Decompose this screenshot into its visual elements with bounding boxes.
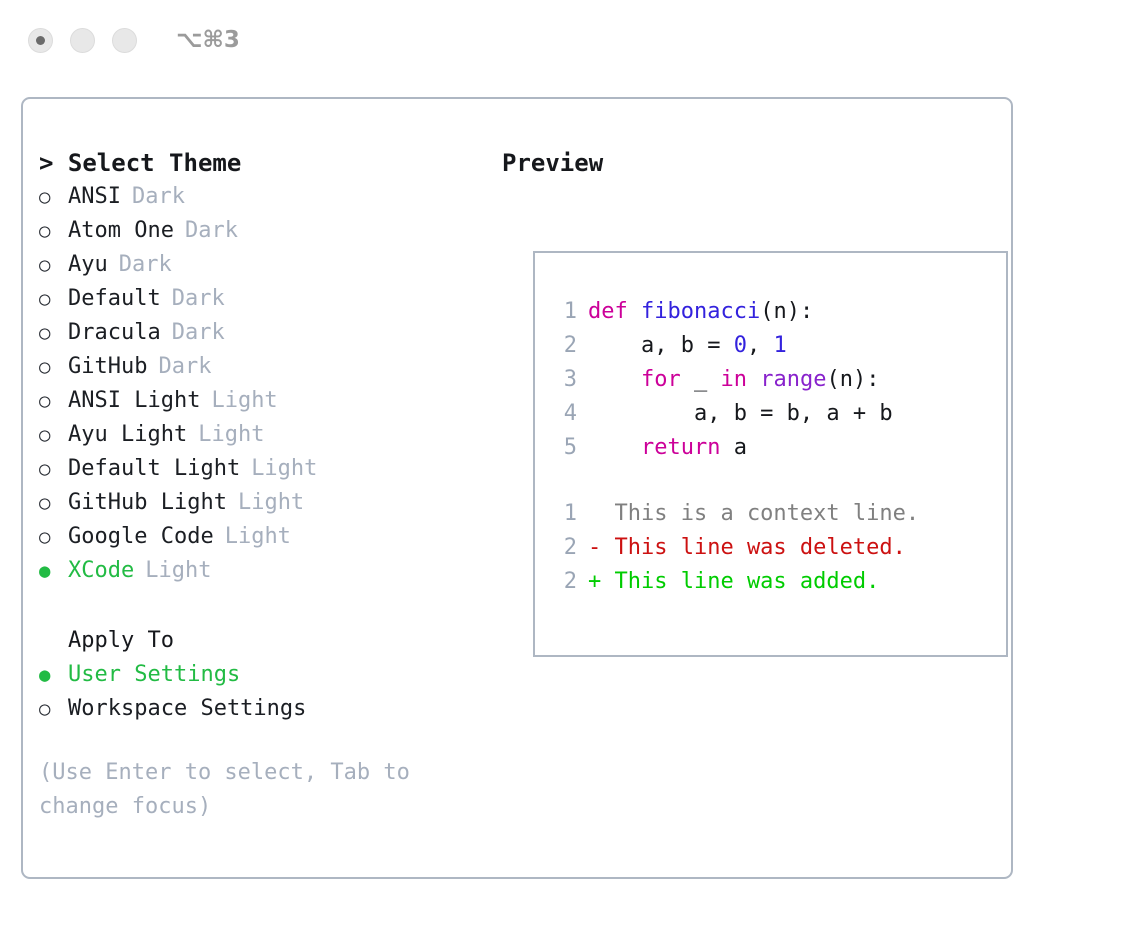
code-line: 5 return a [549,431,919,465]
theme-item-label: GitHub [68,350,147,384]
diff-line-text: + This line was added. [588,565,879,599]
theme-item-tag: Light [211,384,277,418]
theme-item-tag: Light [238,486,304,520]
radio-unselected-icon: ○ [39,214,68,248]
code-sample: 1def fibonacci(n):2 a, b = 0, 13 for _ i… [549,295,919,599]
code-token-fn: fibonacci [641,295,760,329]
diff-line-text: - This line was deleted. [588,531,906,565]
theme-item-label: Ayu Light [68,418,187,452]
theme-item[interactable]: ○DraculaDark [39,316,489,350]
keyboard-hint-text: (Use Enter to select, Tab to change focu… [39,756,449,824]
code-token-num: 1 [773,329,786,363]
keyboard-shortcut-label: ⌥⌘3 [176,27,240,53]
code-line-number: 5 [549,431,577,465]
radio-unselected-icon: ○ [39,316,68,350]
code-token-pl: a, b = [588,329,734,363]
diff-lines: 1 This is a context line.2- This line wa… [549,497,919,599]
theme-item-tag: Light [225,520,291,554]
theme-item-tag: Dark [132,180,185,214]
theme-item[interactable]: ○Google CodeLight [39,520,489,554]
theme-item-tag: Dark [158,350,211,384]
theme-item[interactable]: ○GitHubDark [39,350,489,384]
theme-item[interactable]: ○DefaultDark [39,282,489,316]
apply-to-item[interactable]: ○Workspace Settings [39,692,489,726]
code-token-kw: in [720,363,747,397]
code-token-pl: a [720,431,747,465]
theme-item-label: Default Light [68,452,240,486]
code-gap [549,465,919,497]
code-token-pl [588,363,641,397]
theme-item-tag: Dark [172,316,225,350]
radio-unselected-icon: ○ [39,180,68,214]
code-token-pl: (n): [760,295,813,329]
diff-line-text: This is a context line. [588,497,919,531]
radio-unselected-icon: ○ [39,384,68,418]
code-token-call: range [760,363,826,397]
theme-item[interactable]: ○AyuDark [39,248,489,282]
theme-item[interactable]: ○Atom OneDark [39,214,489,248]
radio-unselected-icon: ○ [39,282,68,316]
radio-unselected-icon: ○ [39,692,68,726]
radio-unselected-icon: ○ [39,486,68,520]
theme-item-label: XCode [68,554,134,588]
theme-item-tag: Dark [185,214,238,248]
diff-line-add: 2+ This line was added. [549,565,919,599]
apply-to-item-label: Workspace Settings [68,692,306,726]
theme-item-tag: Dark [119,248,172,282]
theme-item-label: Default [68,282,161,316]
title-bar: ⌥⌘3 [0,0,1140,80]
app-window: ⌥⌘3 > Select Theme ○ANSIDark○Atom OneDar… [0,0,1140,934]
theme-item[interactable]: ○Default LightLight [39,452,489,486]
theme-item-label: Ayu [68,248,108,282]
theme-item[interactable]: ○ANSI LightLight [39,384,489,418]
code-token-pl [588,431,641,465]
theme-item-label: ANSI [68,180,121,214]
radio-unselected-icon: ○ [39,520,68,554]
radio-unselected-icon: ○ [39,418,68,452]
window-dot-active-icon[interactable] [28,28,53,53]
theme-item-tag: Light [251,452,317,486]
theme-item-tag: Dark [172,282,225,316]
code-token-num: 0 [734,329,747,363]
theme-item-label: Atom One [68,214,174,248]
diff-line-number: 2 [549,531,577,565]
diff-line-number: 1 [549,497,577,531]
code-token-kw: return [641,431,720,465]
theme-item[interactable]: ○Ayu LightLight [39,418,489,452]
theme-item[interactable]: ○GitHub LightLight [39,486,489,520]
radio-unselected-icon: ○ [39,248,68,282]
main-panel: > Select Theme ○ANSIDark○Atom OneDark○Ay… [21,97,1013,879]
theme-item[interactable]: ○ANSIDark [39,180,489,214]
radio-unselected-icon: ○ [39,452,68,486]
preview-column: Preview 1def fibonacci(n):2 a, b = 0, 13… [502,146,992,180]
code-token-pl: _ [681,363,721,397]
radio-selected-icon: ● [39,658,68,692]
theme-item-tag: Light [145,554,211,588]
window-dot-second-icon[interactable] [70,28,95,53]
theme-item-tag: Light [198,418,264,452]
code-line-number: 2 [549,329,577,363]
theme-item-label: ANSI Light [68,384,200,418]
diff-line-number: 2 [549,565,577,599]
code-token-kw: for [641,363,681,397]
preview-title: Preview [502,146,992,180]
code-token-kw: def [588,295,641,329]
theme-list[interactable]: ○ANSIDark○Atom OneDark○AyuDark○DefaultDa… [39,180,489,588]
code-token-pl: (n): [826,363,879,397]
code-token-pl [747,363,760,397]
window-dot-third-icon[interactable] [112,28,137,53]
preview-box: 1def fibonacci(n):2 a, b = 0, 13 for _ i… [533,251,1008,657]
code-token-pl: a, b = b, a + b [588,397,893,431]
theme-selection-column: > Select Theme ○ANSIDark○Atom OneDark○Ay… [39,146,489,824]
code-token-pl: , [747,329,774,363]
apply-to-item[interactable]: ●User Settings [39,658,489,692]
code-line: 4 a, b = b, a + b [549,397,919,431]
theme-item[interactable]: ●XCodeLight [39,554,489,588]
window-dot-inner-icon [36,36,45,45]
window-controls [28,28,137,53]
code-line: 1def fibonacci(n): [549,295,919,329]
code-line-number: 1 [549,295,577,329]
radio-selected-icon: ● [39,554,68,588]
theme-item-label: Dracula [68,316,161,350]
theme-item-label: GitHub Light [68,486,227,520]
diff-line-del: 2- This line was deleted. [549,531,919,565]
select-theme-header: > Select Theme [39,146,489,180]
code-line: 2 a, b = 0, 1 [549,329,919,363]
apply-to-header: Apply To [39,624,489,658]
code-line-number: 3 [549,363,577,397]
code-line-number: 4 [549,397,577,431]
diff-line-ctx: 1 This is a context line. [549,497,919,531]
code-line: 3 for _ in range(n): [549,363,919,397]
code-lines: 1def fibonacci(n):2 a, b = 0, 13 for _ i… [549,295,919,465]
apply-to-item-label: User Settings [68,658,240,692]
theme-item-label: Google Code [68,520,214,554]
radio-unselected-icon: ○ [39,350,68,384]
apply-to-list[interactable]: ●User Settings○Workspace Settings [39,658,489,726]
